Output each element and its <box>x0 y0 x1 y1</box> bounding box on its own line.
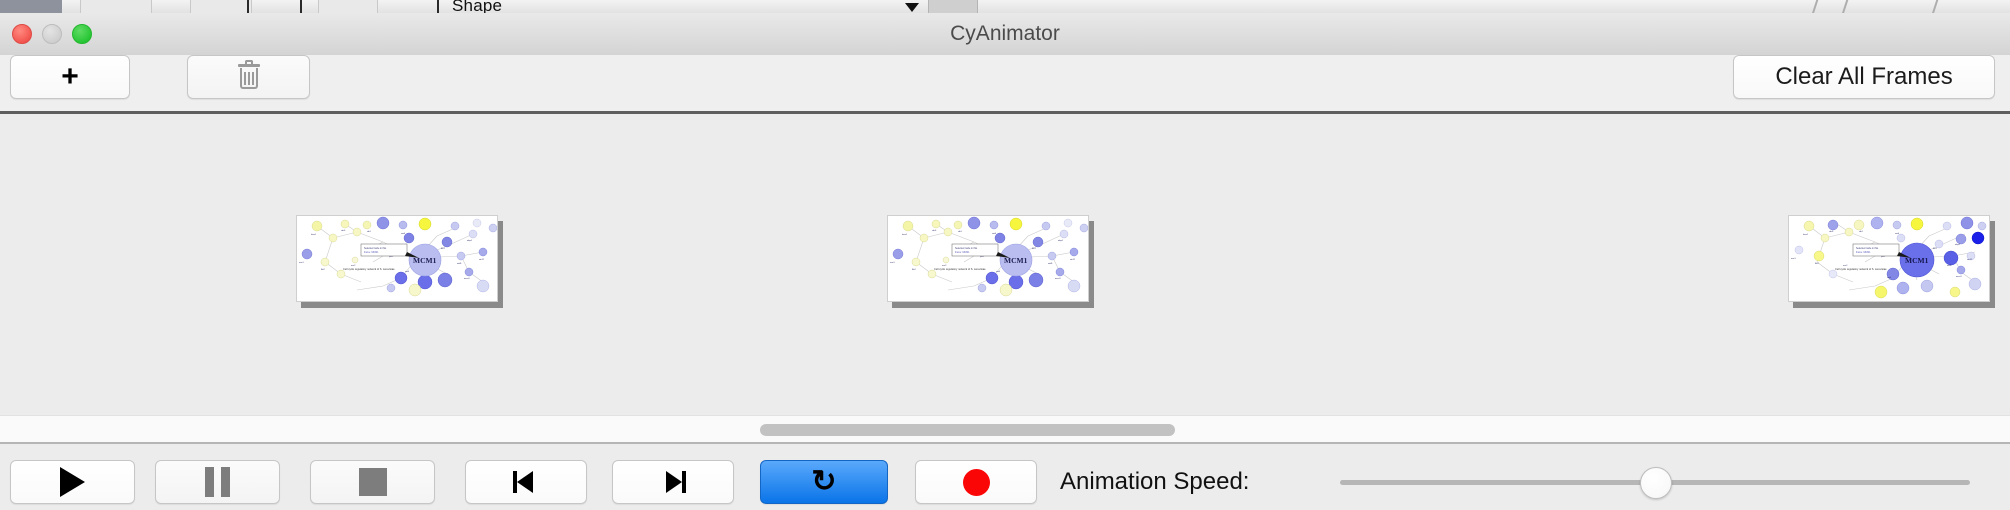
skip-to-start-button[interactable] <box>465 460 587 504</box>
play-button[interactable] <box>10 460 135 504</box>
skip-to-end-icon <box>659 468 687 496</box>
svg-text:mcm3: mcm3 <box>464 278 470 280</box>
frame-thumbnail[interactable]: hmo1cdc6 stb1swi6 rme1fkh2 ace2yox1 ndd1… <box>1788 215 1995 308</box>
timeline-canvas[interactable]: hmo1cdc6 stb1swi6 rme1fkh2 ace2yox1 ndd1… <box>0 114 2010 414</box>
svg-text:ste12: ste12 <box>1070 258 1076 261</box>
svg-text:ndd1: ndd1 <box>1947 265 1952 267</box>
hub-node-label: MCM1 <box>1905 256 1929 265</box>
svg-text:mcm3: mcm3 <box>1055 278 1061 280</box>
svg-text:mbp1: mbp1 <box>467 240 473 242</box>
background-window-tick <box>437 0 439 13</box>
svg-text:Cell cycle regulatory network: Cell cycle regulatory network of S. cere… <box>1835 267 1887 271</box>
record-icon <box>963 469 990 496</box>
frame-thumbnail[interactable]: hmo1cdc6 stb1swi6 rme1fkh2 ace2yox1 ndd1… <box>887 215 1094 308</box>
minimize-button[interactable] <box>42 24 62 44</box>
svg-text:rme1: rme1 <box>299 262 304 264</box>
svg-text:mbp1: mbp1 <box>1955 244 1961 246</box>
frame-network-image: hmo1cdc6 stb1swi6 rme1fkh2 ace2yox1 ndd1… <box>887 215 1089 302</box>
background-window-segment <box>80 0 152 13</box>
svg-text:swi4: swi4 <box>405 271 410 273</box>
trash-icon <box>238 64 260 90</box>
svg-text:Selected node in this: Selected node in this <box>1856 247 1879 250</box>
hub-node-label: MCM1 <box>413 256 437 265</box>
svg-text:mcm3: mcm3 <box>1956 276 1962 278</box>
svg-text:ndd1: ndd1 <box>1048 263 1053 265</box>
background-window-sliver: Shape <box>0 0 2010 13</box>
background-window-gray-block <box>928 0 978 13</box>
timeline-scrollbar[interactable] <box>0 415 2010 444</box>
add-frame-button[interactable]: + <box>10 55 130 99</box>
plus-icon: + <box>61 62 79 92</box>
svg-text:frame: MCM1: frame: MCM1 <box>1856 251 1871 254</box>
svg-text:fkh1: fkh1 <box>1032 248 1037 250</box>
svg-text:fkh1: fkh1 <box>441 248 446 250</box>
svg-text:ndd1: ndd1 <box>457 263 462 265</box>
frame-network-image: hmo1cdc6 stb1swi6 rme1fkh2 ace2yox1 ndd1… <box>1788 215 1990 302</box>
background-window-tick <box>247 0 249 13</box>
animation-speed-label: Animation Speed: <box>1060 460 1249 504</box>
slider-thumb[interactable] <box>1640 467 1672 499</box>
pause-icon <box>205 467 230 497</box>
svg-text:Selected node in this: Selected node in this <box>364 247 387 250</box>
svg-text:Selected node in this: Selected node in this <box>955 247 978 250</box>
stop-button[interactable] <box>310 460 435 504</box>
svg-text:Cell cycle regulatory network: Cell cycle regulatory network of S. cere… <box>343 267 395 271</box>
background-window-slash <box>1810 0 1822 13</box>
title-bar: CyAnimator <box>0 13 2010 56</box>
animation-speed-slider[interactable] <box>1340 474 1970 490</box>
svg-text:frame: MCM1: frame: MCM1 <box>955 251 970 254</box>
clear-all-frames-label: Clear All Frames <box>1775 63 1952 91</box>
background-window-slash <box>1840 0 1852 13</box>
background-window-segment <box>190 0 252 13</box>
record-button[interactable] <box>915 460 1037 504</box>
skip-to-start-icon <box>512 468 540 496</box>
page-title: CyAnimator <box>0 13 2010 55</box>
svg-text:frame: MCM1: frame: MCM1 <box>364 251 379 254</box>
maximize-button[interactable] <box>72 24 92 44</box>
svg-text:mbp1: mbp1 <box>1058 240 1064 242</box>
svg-text:hmo1: hmo1 <box>1803 234 1809 236</box>
background-window-arrow-icon <box>905 3 919 12</box>
svg-text:ace2: ace2 <box>1843 265 1848 267</box>
svg-text:fkh2: fkh2 <box>912 269 917 271</box>
svg-text:fkh2: fkh2 <box>321 269 326 271</box>
svg-text:swi4: swi4 <box>996 271 1001 273</box>
frame-network-image: hmo1cdc6 stb1swi6 rme1fkh2 ace2yox1 ndd1… <box>296 215 498 302</box>
svg-text:Cell cycle regulatory network: Cell cycle regulatory network of S. cere… <box>934 267 986 271</box>
background-window-slash <box>1930 0 1942 13</box>
svg-text:hmo1: hmo1 <box>902 234 908 236</box>
background-window-segment <box>318 0 378 13</box>
svg-text:stb1: stb1 <box>958 230 963 233</box>
traffic-lights <box>12 24 92 44</box>
svg-text:stb1: stb1 <box>367 230 372 233</box>
svg-text:stb1: stb1 <box>1859 230 1864 233</box>
timeline-scrollbar-thumb[interactable] <box>760 424 1175 436</box>
frame-thumbnail[interactable]: hmo1cdc6 stb1swi6 rme1fkh2 ace2yox1 ndd1… <box>296 215 503 308</box>
svg-text:hmo1: hmo1 <box>311 234 317 236</box>
clear-all-frames-button[interactable]: Clear All Frames <box>1733 55 1995 99</box>
skip-to-end-button[interactable] <box>612 460 734 504</box>
background-window-tick <box>300 0 302 13</box>
delete-frame-button[interactable] <box>187 55 310 99</box>
svg-text:cdc6: cdc6 <box>341 230 346 232</box>
pause-button[interactable] <box>155 460 280 504</box>
svg-text:fkh1: fkh1 <box>1933 248 1938 250</box>
hub-node-label: MCM1 <box>1004 256 1028 265</box>
svg-text:ace2: ace2 <box>351 265 356 267</box>
background-window-shape-label: Shape <box>452 0 502 13</box>
svg-text:rme1: rme1 <box>890 262 895 264</box>
svg-text:cdc6: cdc6 <box>1829 231 1834 233</box>
play-icon <box>60 467 85 497</box>
svg-text:cdc6: cdc6 <box>932 230 937 232</box>
background-window-left-block <box>0 0 62 13</box>
svg-text:ste12: ste12 <box>479 258 485 261</box>
svg-text:ace2: ace2 <box>942 265 947 267</box>
loop-button[interactable]: ↻ <box>760 460 888 504</box>
loop-icon: ↻ <box>811 467 836 497</box>
stop-icon <box>359 468 387 496</box>
cyanimator-window: Shape CyAnimator + Clear All Frames <box>0 0 2010 510</box>
svg-text:rme1: rme1 <box>1791 258 1796 260</box>
close-button[interactable] <box>12 24 32 44</box>
